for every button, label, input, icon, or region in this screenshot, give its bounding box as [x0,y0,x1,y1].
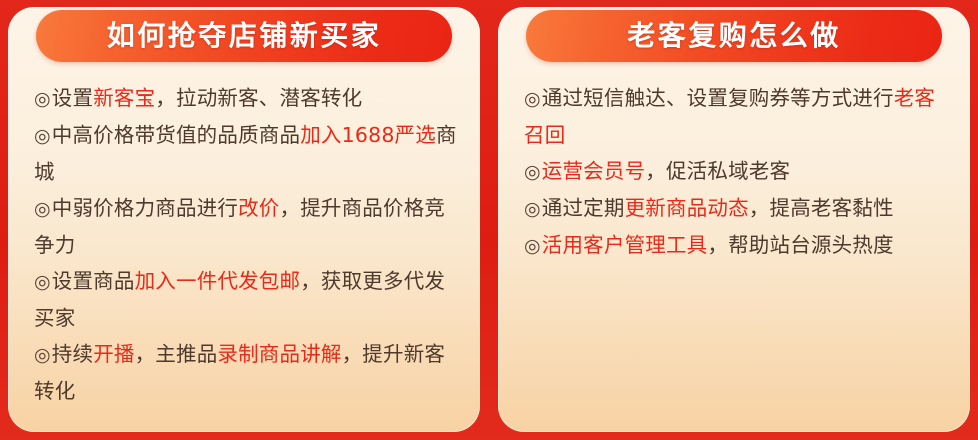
tip-list: ◎通过短信触达、设置复购券等方式进行老客召回◎运营会员号，促活私域老客◎通过定期… [524,80,948,264]
bullet-marker-icon: ◎ [34,88,51,110]
list-item: ◎设置商品加入一件代发包邮，获取更多代发买家 [34,263,458,336]
bullet-marker-icon: ◎ [34,271,51,293]
card-header-banner: 如何抢夺店铺新买家 [36,10,452,62]
list-item: ◎运营会员号，促活私域老客 [524,153,948,190]
body-text: 持续 [52,342,93,366]
list-item: ◎通过定期更新商品动态，提高老客黏性 [524,190,948,227]
list-item: ◎通过短信触达、设置复购券等方式进行老客召回 [524,80,948,153]
card-title: 老客复购怎么做 [627,22,841,50]
tip-list: ◎设置新客宝，拉动新客、潜客转化◎中高价格带货值的品质商品加入1688严选商城◎… [34,80,458,409]
body-text: 设置商品 [52,269,135,293]
card-body: ◎设置新客宝，拉动新客、潜客转化◎中高价格带货值的品质商品加入1688严选商城◎… [8,62,480,432]
highlight-text: 更新商品动态 [625,196,749,220]
bullet-marker-icon: ◎ [34,125,51,147]
body-text: ，主推品 [135,342,218,366]
body-text: ，拉动新客、潜客转化 [155,86,362,110]
strategy-card-1: 如何抢夺店铺新买家◎设置新客宝，拉动新客、潜客转化◎中高价格带货值的品质商品加入… [8,7,480,432]
bullet-marker-icon: ◎ [524,161,541,183]
body-text: 中高价格带货值的品质商品 [52,123,300,147]
highlight-text: 开播 [93,342,134,366]
highlight-text: 改价 [238,196,279,220]
body-text: 通过短信触达、设置复购券等方式进行 [542,86,894,110]
body-text: 中弱价格力商品进行 [52,196,238,220]
body-text: 通过定期 [542,196,625,220]
bullet-marker-icon: ◎ [34,198,51,220]
list-item: ◎活用客户管理工具，帮助站台源头热度 [524,227,948,264]
card-title: 如何抢夺店铺新买家 [107,22,382,50]
highlight-text: 运营会员号 [542,159,646,183]
card-body: ◎通过短信触达、设置复购券等方式进行老客召回◎运营会员号，促活私域老客◎通过定期… [498,62,970,432]
highlight-text: 活用客户管理工具 [542,233,708,257]
strategy-card-2: 老客复购怎么做◎通过短信触达、设置复购券等方式进行老客召回◎运营会员号，促活私域… [498,7,970,432]
bullet-marker-icon: ◎ [34,344,51,366]
bullet-marker-icon: ◎ [524,88,541,110]
highlight-text: 新客宝 [93,86,155,110]
bullet-marker-icon: ◎ [524,235,541,257]
bullet-marker-icon: ◎ [524,198,541,220]
body-text: ，促活私域老客 [645,159,790,183]
body-text: ，帮助站台源头热度 [707,233,893,257]
highlight-text: 加入1688严选 [300,123,436,147]
highlight-text: 加入一件代发包邮 [135,269,301,293]
body-text: 设置 [52,86,93,110]
list-item: ◎中弱价格力商品进行改价，提升商品价格竞争力 [34,190,458,263]
highlight-text: 录制商品讲解 [217,342,341,366]
body-text: ，提高老客黏性 [749,196,894,220]
list-item: ◎持续开播，主推品录制商品讲解，提升新客转化 [34,336,458,409]
promo-poster: 如何抢夺店铺新买家◎设置新客宝，拉动新客、潜客转化◎中高价格带货值的品质商品加入… [0,0,978,440]
list-item: ◎中高价格带货值的品质商品加入1688严选商城 [34,117,458,190]
card-header-banner: 老客复购怎么做 [526,10,942,62]
list-item: ◎设置新客宝，拉动新客、潜客转化 [34,80,458,117]
